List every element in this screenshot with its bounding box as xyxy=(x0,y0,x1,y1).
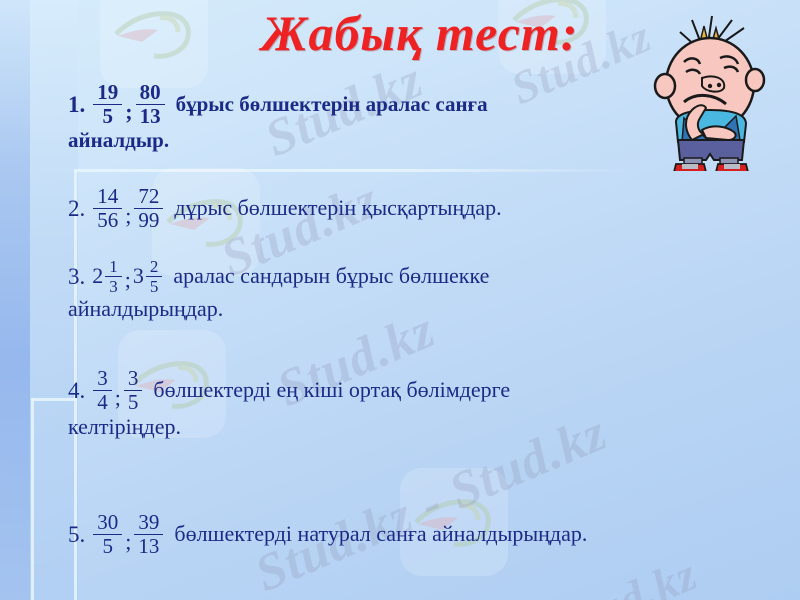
question-number: 2. xyxy=(68,196,85,222)
fraction-denominator: 3 xyxy=(105,277,122,295)
question-line: 5. 30 5 ; 39 13 бөлшектерді натурал санғ… xyxy=(68,512,788,557)
fraction-denominator: 13 xyxy=(136,105,165,127)
fraction: 30 5 xyxy=(93,512,122,557)
fraction-group: 14 56 ; 72 99 xyxy=(92,186,164,231)
fraction: 1 3 xyxy=(105,258,122,295)
fraction-numerator: 19 xyxy=(93,82,122,105)
fraction: 19 5 xyxy=(93,82,122,127)
fraction-numerator: 3 xyxy=(124,368,143,391)
fraction-numerator: 2 xyxy=(146,258,163,277)
fraction-separator: ; xyxy=(125,530,131,557)
question-item: 5. 30 5 ; 39 13 бөлшектерді натурал санғ… xyxy=(68,512,788,557)
fraction-denominator: 5 xyxy=(99,535,118,557)
fraction-denominator: 4 xyxy=(93,391,112,413)
fraction: 3 4 xyxy=(93,368,112,413)
fraction-denominator: 5 xyxy=(99,105,118,127)
fraction: 80 13 xyxy=(136,82,165,127)
fraction-denominator: 5 xyxy=(146,277,163,295)
question-text-tail: келтіріңдер. xyxy=(68,415,748,440)
fraction: 3 5 xyxy=(124,368,143,413)
fraction-numerator: 80 xyxy=(136,82,165,105)
question-number: 5. xyxy=(68,522,85,548)
fraction-numerator: 14 xyxy=(93,186,122,209)
fraction-denominator: 13 xyxy=(134,535,163,557)
fraction: 39 13 xyxy=(134,512,163,557)
fraction: 2 5 xyxy=(146,258,163,295)
fraction-numerator: 30 xyxy=(93,512,122,535)
question-item: 1. 19 5 ; 80 13 бұрыс бөлшектерін аралас… xyxy=(68,82,668,153)
question-number: 3. xyxy=(68,264,85,290)
fraction-numerator: 1 xyxy=(105,258,122,277)
fraction: 72 99 xyxy=(134,186,163,231)
fraction-denominator: 5 xyxy=(124,391,143,413)
question-text: бөлшектерді натурал санға айналдырыңдар. xyxy=(174,522,587,547)
question-line: 2. 14 56 ; 72 99 дұрыс бөлшектерін қысқа… xyxy=(68,186,708,231)
question-line: 3. 2 1 3 ; 3 2 5 xyxy=(68,258,728,295)
question-text-tail: айналдырыңдар. xyxy=(68,297,728,322)
fraction-group: 19 5 ; 80 13 xyxy=(92,82,165,127)
fraction: 14 56 xyxy=(93,186,122,231)
question-text: аралас сандарын бұрыс бөлшекке xyxy=(173,264,489,289)
question-text: бұрыс бөлшектерін аралас санға xyxy=(176,93,488,117)
fraction-group: 2 1 3 ; 3 2 5 xyxy=(92,258,163,295)
fraction-separator: ; xyxy=(125,100,132,127)
question-line: 4. 3 4 ; 3 5 бөлшектерді ең кіші ортақ б… xyxy=(68,368,748,413)
mixed-number: 2 1 3 xyxy=(92,258,123,295)
question-text: бөлшектерді ең кіші ортақ бөлімдерге xyxy=(153,378,510,403)
mixed-whole: 3 xyxy=(133,264,144,289)
question-text-tail: айналдыр. xyxy=(68,129,668,153)
slide-canvas: Stud.kz Stud.kz Stud.kz Stud.kz Stud.kz … xyxy=(0,0,800,600)
question-number: 4. xyxy=(68,378,85,404)
question-item: 4. 3 4 ; 3 5 бөлшектерді ең кіші ортақ б… xyxy=(68,368,748,440)
fraction-denominator: 99 xyxy=(134,209,163,231)
fraction-separator: ; xyxy=(115,386,121,413)
fraction-numerator: 39 xyxy=(134,512,163,535)
question-line: 1. 19 5 ; 80 13 бұрыс бөлшектерін аралас… xyxy=(68,82,668,127)
question-item: 3. 2 1 3 ; 3 2 5 xyxy=(68,258,728,322)
fraction-denominator: 56 xyxy=(93,209,122,231)
fraction-numerator: 3 xyxy=(93,368,112,391)
mixed-whole: 2 xyxy=(92,264,103,289)
question-text: дұрыс бөлшектерін қысқартыңдар. xyxy=(174,196,501,221)
fraction-group: 30 5 ; 39 13 xyxy=(92,512,164,557)
question-number: 1. xyxy=(68,92,85,118)
fraction-separator: ; xyxy=(125,268,131,295)
fraction-group: 3 4 ; 3 5 xyxy=(92,368,143,413)
question-item: 2. 14 56 ; 72 99 дұрыс бөлшектерін қысқа… xyxy=(68,186,708,231)
question-list: 1. 19 5 ; 80 13 бұрыс бөлшектерін аралас… xyxy=(0,0,800,600)
fraction-separator: ; xyxy=(125,204,131,231)
mixed-number: 3 2 5 xyxy=(133,258,164,295)
fraction-numerator: 72 xyxy=(134,186,163,209)
